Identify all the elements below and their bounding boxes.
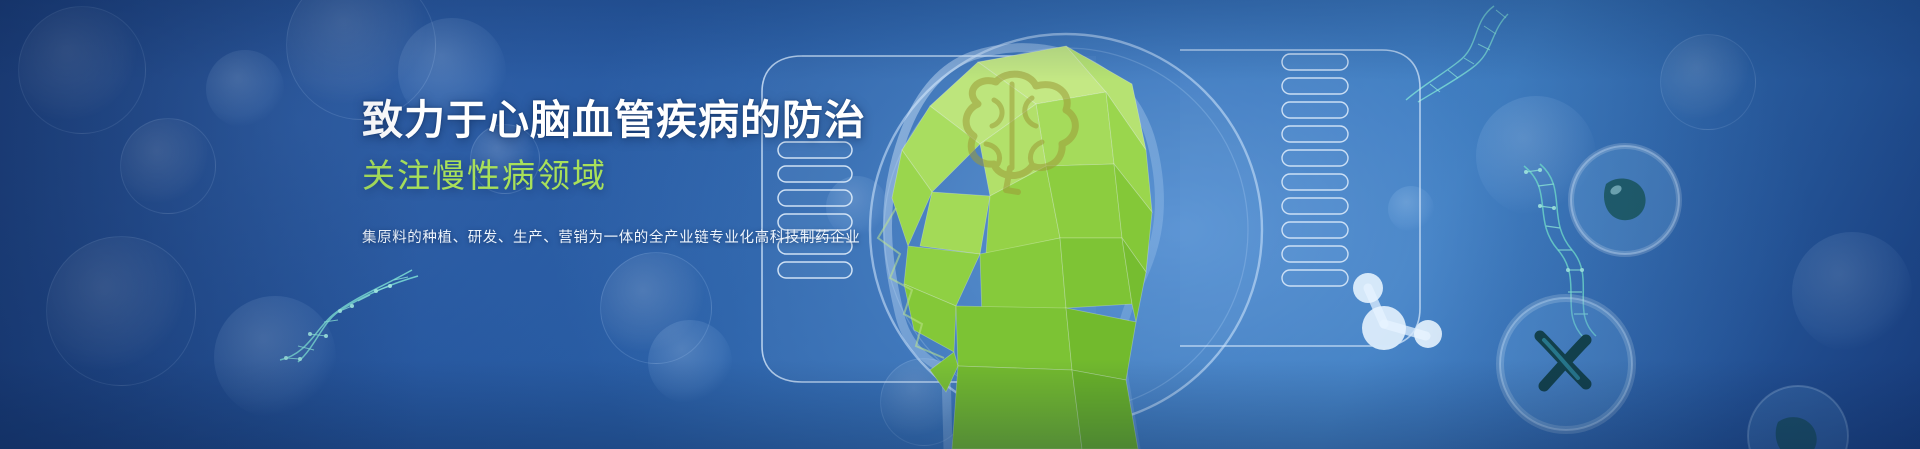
bokeh-circle <box>214 296 336 418</box>
molecule-icon <box>1340 260 1450 370</box>
cell-bacteria-icon <box>1738 382 1858 449</box>
dna-helix-icon <box>1496 162 1606 342</box>
hero-copy: 致力于心脑血管疾病的防治 关注慢性病领域 集原料的种植、研发、生产、营销为一体的… <box>362 96 922 247</box>
page-subtitle: 关注慢性病领域 <box>362 156 922 196</box>
bokeh-circle <box>880 358 968 446</box>
dna-helix-icon <box>1400 4 1520 104</box>
dna-helix-icon <box>272 258 422 368</box>
edge-vignette <box>0 0 1920 449</box>
bokeh-circle <box>206 50 284 128</box>
bokeh-circle <box>46 236 196 386</box>
bokeh-circle <box>18 6 146 134</box>
bokeh-circle <box>1476 96 1596 216</box>
bokeh-circle <box>1792 232 1912 352</box>
cell-bacteria-icon <box>1560 140 1690 260</box>
page-title: 致力于心脑血管疾病的防治 <box>362 96 922 144</box>
hero-banner: 致力于心脑血管疾病的防治 关注慢性病领域 集原料的种植、研发、生产、营销为一体的… <box>0 0 1920 449</box>
cell-bacteria-icon <box>1490 288 1640 438</box>
bokeh-circle <box>648 320 732 404</box>
page-tagline: 集原料的种植、研发、生产、营销为一体的全产业链专业化高科技制药企业 <box>362 226 922 247</box>
bokeh-circle <box>120 118 216 214</box>
brain-icon <box>966 74 1075 192</box>
hud-panel-bars <box>1180 48 1440 348</box>
bokeh-circle <box>1388 186 1434 232</box>
bokeh-circle <box>1016 222 1068 274</box>
bokeh-circle <box>600 252 712 364</box>
bokeh-circle <box>1660 34 1756 130</box>
